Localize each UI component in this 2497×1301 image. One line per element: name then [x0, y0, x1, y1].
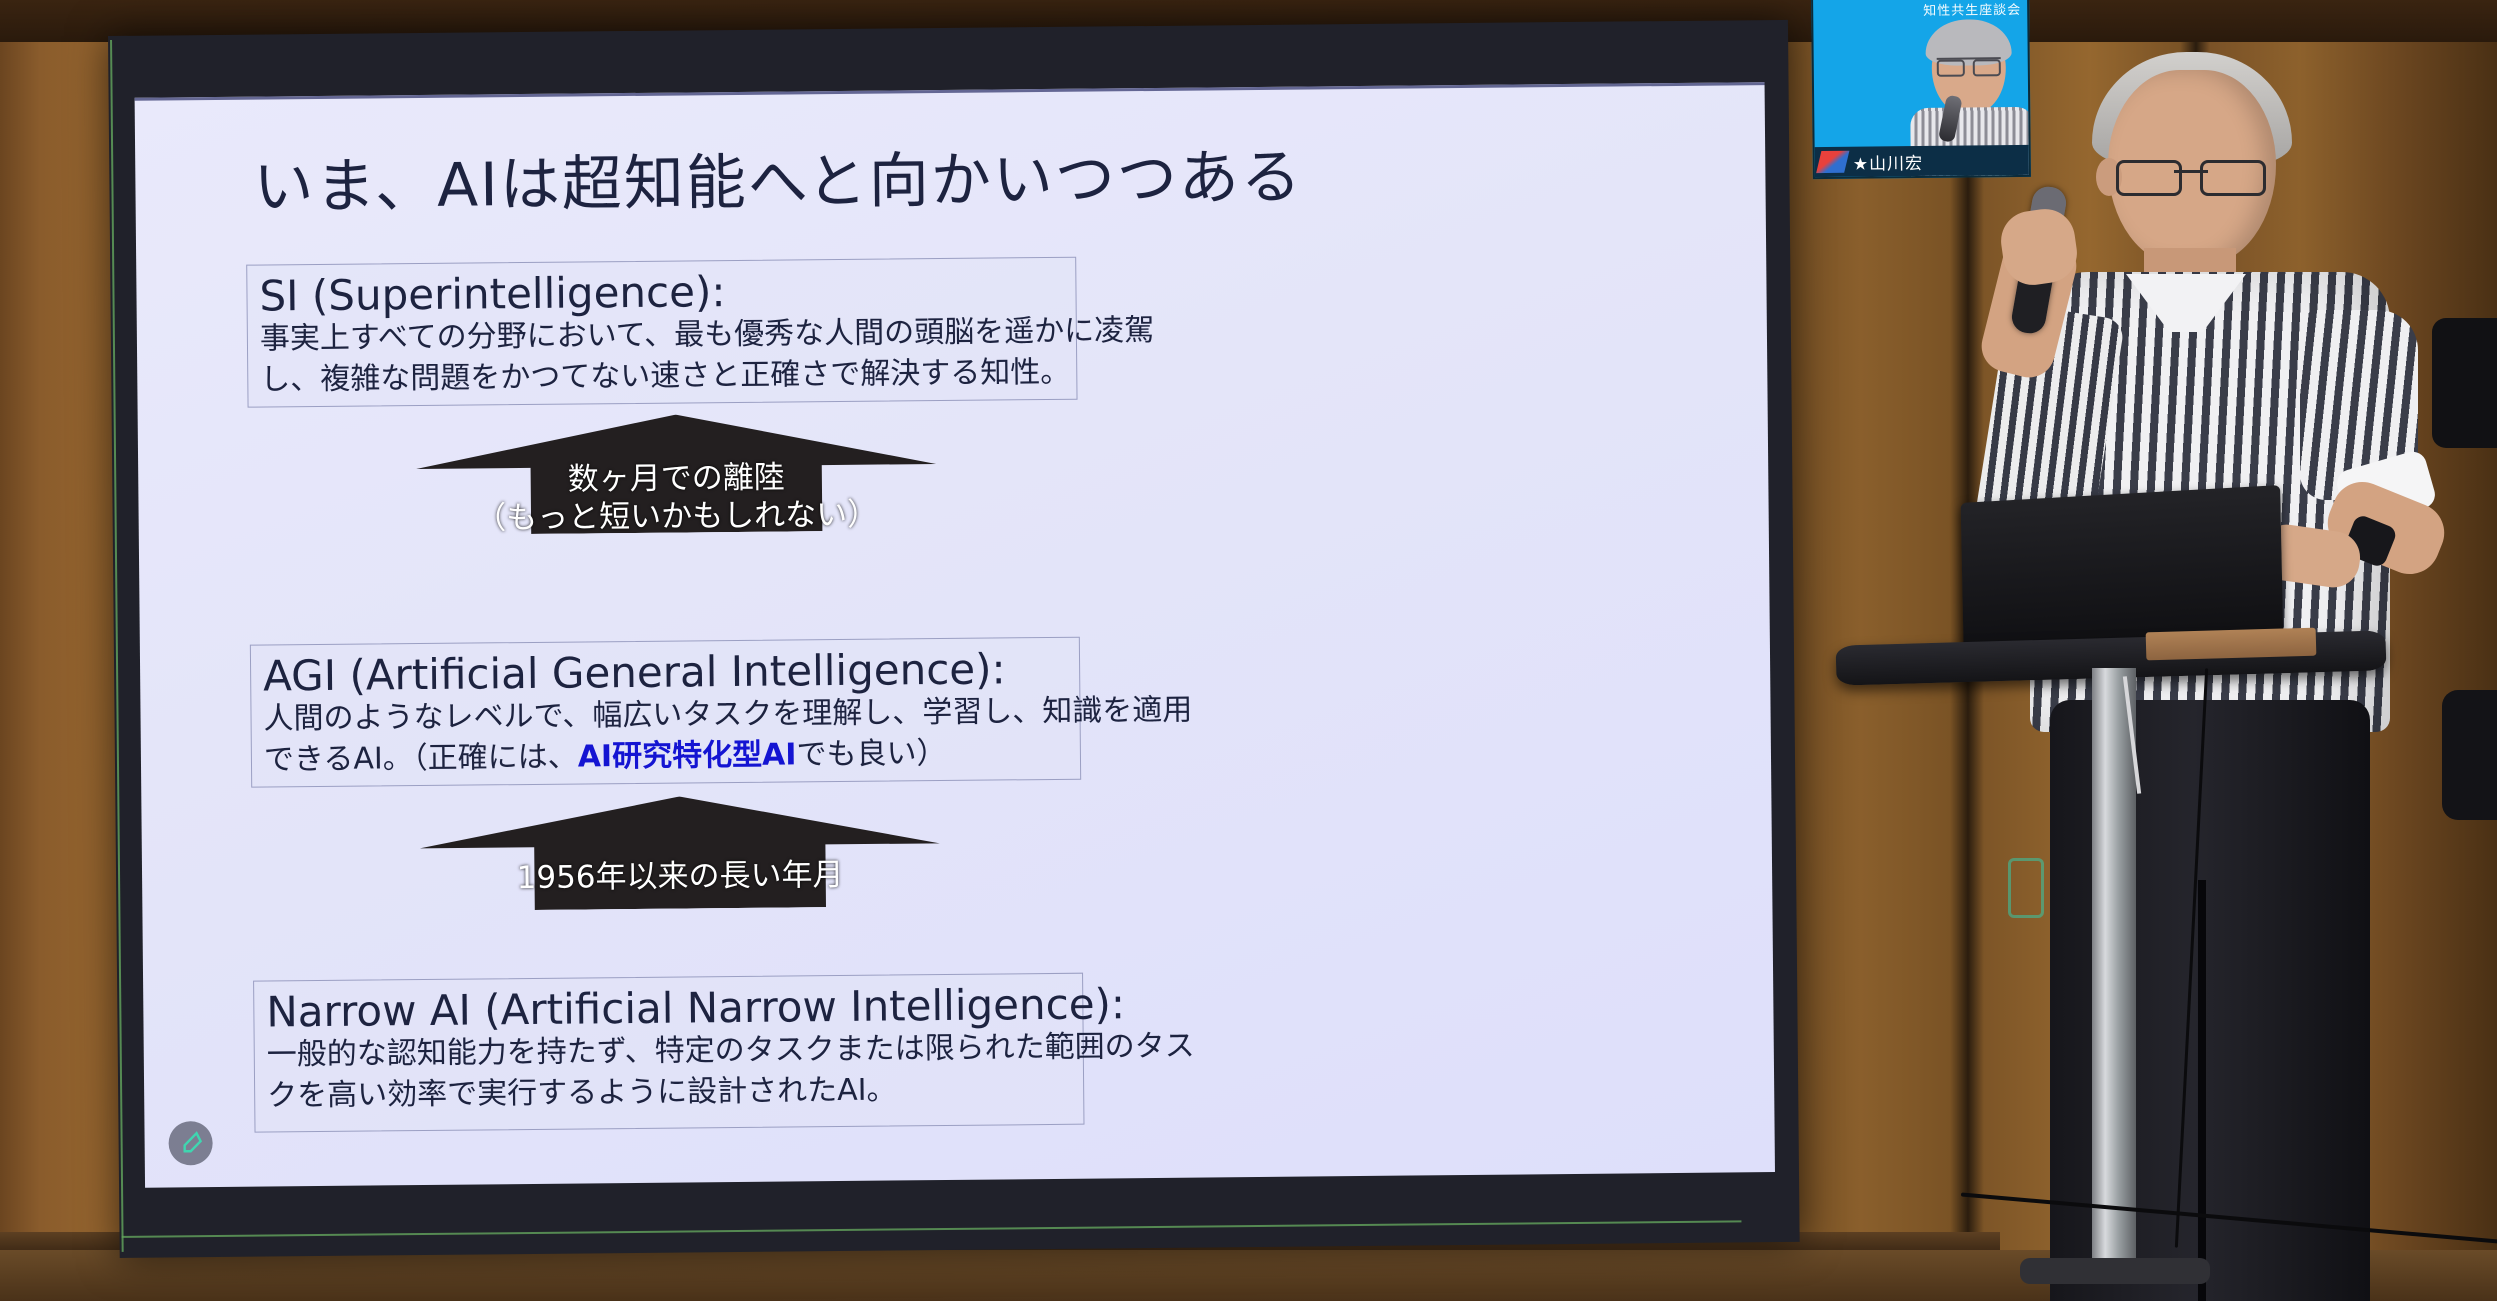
- glasses-bridge: [2174, 170, 2208, 173]
- slide-top-rule: [135, 82, 1765, 101]
- concept-box-agi: AGI (Artificial General Intelligence): 人…: [250, 637, 1081, 788]
- box-body-agi-line2-prefix: できるAI。（正確には、: [264, 739, 578, 777]
- box-body-agi-line2-suffix: でも良い）: [796, 736, 946, 772]
- presentation-slide: いま、AIは超知能へと向かいつつある SI (Superintelligence…: [135, 82, 1775, 1188]
- arrow-label-agi: 1956年以来の長い年月: [420, 856, 940, 899]
- screen-edge-highlight-bottom: [122, 1220, 1742, 1238]
- box-body-agi-line1: 人間のようなレベルで、幅広いタスクを理解し、学習し、知識を適用: [263, 692, 1079, 740]
- box-heading-agi: AGI (Artificial General Intelligence):: [263, 646, 1079, 700]
- pip-program-title: 知性共生座談会: [1923, 0, 2021, 19]
- box-body-si-line2: し、複雑な問題をかつてない速さと正確さで解決する知性。: [260, 352, 1076, 400]
- arrow-label-agi-line1: 1956年以来の長い年月: [420, 856, 940, 899]
- concept-box-si: SI (Superintelligence): 事実上すべての分野において、最も…: [246, 257, 1077, 408]
- pip-speaker-name: ★山川宏: [1853, 148, 1924, 174]
- arrow-label-si: 数ヶ月での離陸 （もっと短いかもしれない）: [416, 458, 937, 539]
- box-heading-si: SI (Superintelligence):: [259, 266, 1075, 320]
- notepad: [2146, 628, 2317, 661]
- upward-arrow-to-agi: 1956年以来の長い年月: [419, 794, 940, 911]
- presenter-glasses-icon: [2116, 160, 2266, 190]
- box-body-agi-highlight: AI研究特化型AI: [578, 737, 797, 774]
- box-heading-narrow: Narrow AI (Artificial Narrow Intelligenc…: [266, 982, 1082, 1036]
- channel-mark-icon: [1816, 151, 1849, 173]
- podium-base: [2020, 1258, 2210, 1284]
- upward-arrow-to-si: 数ヶ月での離陸 （もっと短いかもしれない）: [416, 412, 937, 535]
- photo-scene: いま、AIは超知能へと向かいつつある SI (Superintelligence…: [0, 0, 2497, 1301]
- wall-speaker-top: [2432, 318, 2497, 448]
- slide-title: いま、AIは超知能へと向かいつつある: [253, 129, 1303, 226]
- arrow-label-si-line1: 数ヶ月での離陸: [416, 458, 936, 501]
- box-body-narrow-line1: 一般的な認知能力を持たず、特定のタスクまたは限られた範囲のタス: [267, 1028, 1083, 1076]
- pencil-logo-icon: [168, 1121, 212, 1165]
- presenter-leg-split: [2198, 880, 2206, 1301]
- projection-screen: いま、AIは超知能へと向かいつつある SI (Superintelligence…: [108, 20, 1800, 1258]
- wall-speaker-bottom: [2442, 690, 2497, 820]
- concept-box-narrow-ai: Narrow AI (Artificial Narrow Intelligenc…: [253, 973, 1084, 1133]
- box-body-narrow-line2: クを高い効率で実行するように設計されたAI。: [267, 1068, 1083, 1116]
- box-body-agi-line2: できるAI。（正確には、AI研究特化型AIでも良い）: [264, 732, 1080, 780]
- podium-column: [2092, 668, 2136, 1268]
- arrow-label-si-line2: （もっと短いかもしれない）: [416, 496, 936, 539]
